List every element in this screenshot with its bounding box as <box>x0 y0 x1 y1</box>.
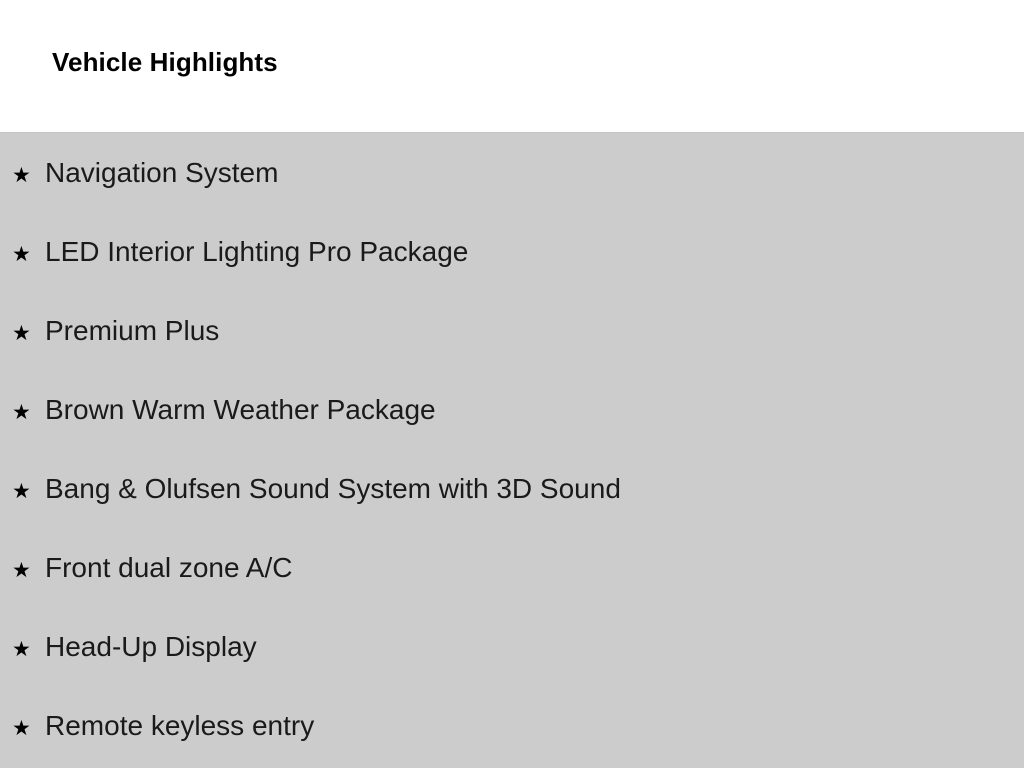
highlight-item-label: Brown Warm Weather Package <box>45 390 436 430</box>
highlight-item-label: Bang & Olufsen Sound System with 3D Soun… <box>45 469 621 509</box>
vehicle-highlights-page: Vehicle Highlights ★Navigation System★LE… <box>0 0 1024 768</box>
page-header: Vehicle Highlights <box>0 0 1024 132</box>
highlight-list-item: ★Premium Plus <box>0 311 1024 390</box>
highlight-list-item: ★Navigation System <box>0 153 1024 232</box>
highlight-item-label: Head-Up Display <box>45 627 257 667</box>
highlight-list-item: ★Head-Up Display <box>0 627 1024 706</box>
star-icon: ★ <box>12 471 45 511</box>
highlight-item-label: LED Interior Lighting Pro Package <box>45 232 468 272</box>
highlight-item-label: Navigation System <box>45 153 278 193</box>
highlight-list-item: ★Remote keyless entry <box>0 706 1024 768</box>
highlight-list-item: ★Bang & Olufsen Sound System with 3D Sou… <box>0 469 1024 548</box>
star-icon: ★ <box>12 392 45 432</box>
highlight-list-item: ★Brown Warm Weather Package <box>0 390 1024 469</box>
star-icon: ★ <box>12 234 45 274</box>
star-icon: ★ <box>12 313 45 353</box>
highlight-item-label: Premium Plus <box>45 311 219 351</box>
highlight-list-item: ★Front dual zone A/C <box>0 548 1024 627</box>
star-icon: ★ <box>12 708 45 748</box>
highlight-item-label: Front dual zone A/C <box>45 548 292 588</box>
star-icon: ★ <box>12 550 45 590</box>
highlight-list-item: ★LED Interior Lighting Pro Package <box>0 232 1024 311</box>
star-icon: ★ <box>12 629 45 669</box>
highlight-item-label: Remote keyless entry <box>45 706 314 746</box>
page-title: Vehicle Highlights <box>52 48 278 77</box>
star-icon: ★ <box>12 155 45 195</box>
highlights-panel: ★Navigation System★LED Interior Lighting… <box>0 132 1024 768</box>
highlights-list: ★Navigation System★LED Interior Lighting… <box>0 133 1024 768</box>
